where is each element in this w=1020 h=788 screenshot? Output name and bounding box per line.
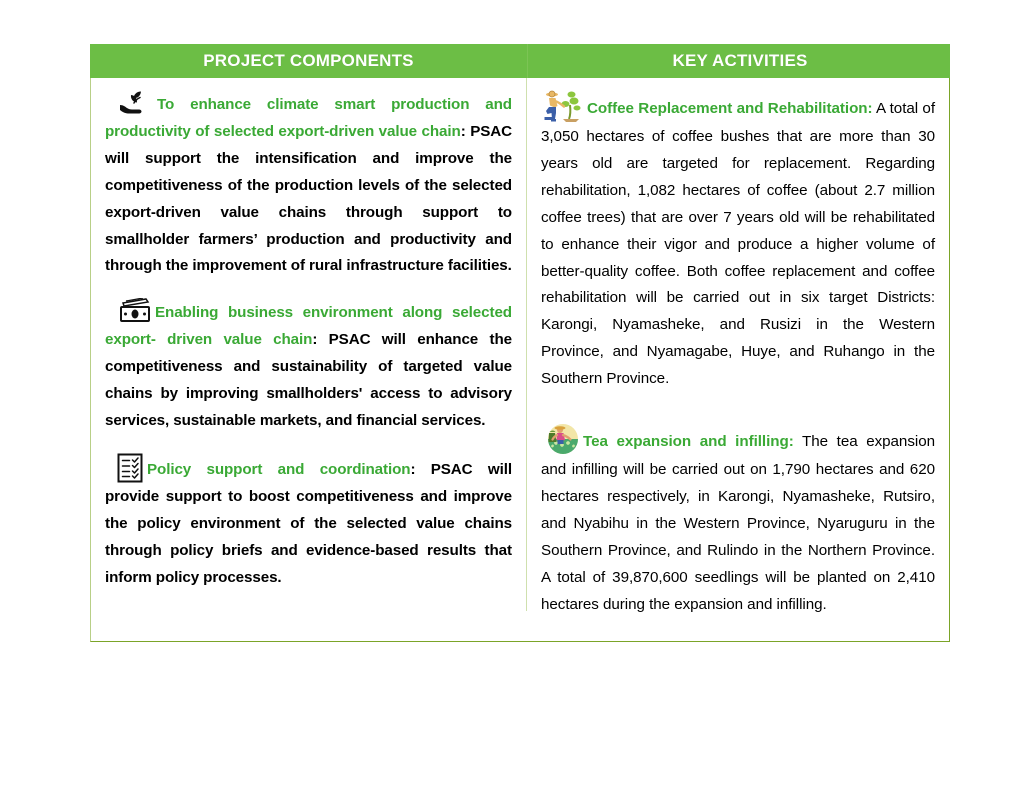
key-activities-column: Coffee Replacement and Rehabilitation: A… — [527, 78, 949, 641]
farmer-planting-tree-icon — [543, 90, 587, 124]
table-body-row: To enhance climate smart production and … — [91, 78, 949, 641]
activity-item: Coffee Replacement and Rehabilitation: A… — [541, 90, 935, 393]
activity-body-text: A total of 3,050 hectares of coffee bush… — [541, 100, 935, 387]
component-body-text: : PSAC will provide support to boost com… — [105, 461, 512, 586]
project-components-column: To enhance climate smart production and … — [91, 78, 527, 611]
banknote-icon — [119, 298, 151, 324]
page-root: PROJECT COMPONENTS KEY ACTIVITIES To enh… — [0, 0, 1020, 788]
activity-item: Tea expansion and infilling: The tea exp… — [541, 423, 935, 618]
component-item: Enabling business environment along sele… — [105, 298, 512, 435]
component-item: To enhance climate smart production and … — [105, 90, 512, 280]
activity-lead-text: Tea expansion and infilling: — [583, 433, 794, 450]
component-item: Policy support and coordination: PSAC wi… — [105, 453, 512, 592]
component-lead-text: Policy support and coordination — [147, 461, 410, 478]
table-header-row: PROJECT COMPONENTS KEY ACTIVITIES — [90, 44, 950, 78]
column-header-key-activities: KEY ACTIVITIES — [528, 44, 952, 78]
sprout-in-hand-icon — [119, 90, 153, 114]
checklist-clipboard-icon — [117, 453, 143, 483]
component-lead-text: To enhance climate smart production and … — [105, 96, 512, 140]
tea-picker-icon — [543, 423, 583, 457]
column-header-project-components: PROJECT COMPONENTS — [90, 44, 528, 78]
activity-body-text: The tea expansion and infilling will be … — [541, 433, 935, 613]
project-overview-table: PROJECT COMPONENTS KEY ACTIVITIES To enh… — [90, 44, 950, 642]
activity-lead-text: Coffee Replacement and Rehabilitation: — [587, 100, 873, 117]
component-body-text: : PSAC will support the intensification … — [105, 123, 512, 275]
